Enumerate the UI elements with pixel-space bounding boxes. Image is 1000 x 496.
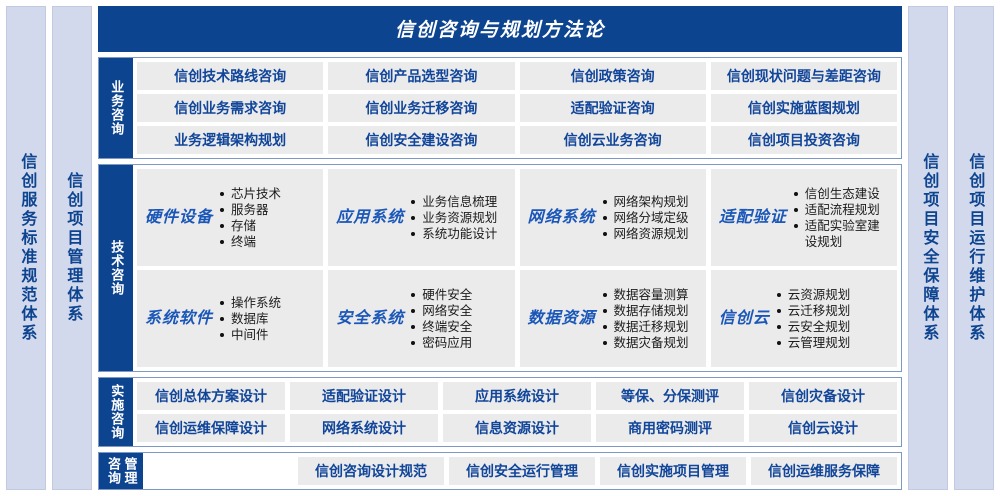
card-row: 系统软件 操作系统 数据库 中间件 安全系统 硬件安全 网络安全 终端安全 bbox=[137, 270, 897, 367]
bullet-item: 业务信息梳理 bbox=[410, 194, 508, 210]
pillar-project-ops-system: 信创项目运行维护体系 bbox=[954, 6, 994, 490]
card-heading: 应用系统 bbox=[336, 209, 404, 227]
bullet-item: 网络资源规划 bbox=[602, 226, 700, 242]
card-heading: 适配验证 bbox=[719, 209, 787, 227]
card-heading: 数据资源 bbox=[528, 310, 596, 328]
pillar-project-security-system: 信创项目安全保障体系 bbox=[908, 6, 948, 490]
card-bullet-list: 云资源规划 云迁移规划 云安全规划 云管理规划 bbox=[776, 287, 891, 351]
card-hardware-devices[interactable]: 硬件设备 芯片技术 服务器 存储 终端 bbox=[137, 169, 323, 266]
bullet-item: 云管理规划 bbox=[776, 335, 891, 351]
center-column: 信创咨询与规划方法论 业务咨询 信创技术路线咨询 信创产品选型咨询 信创政策咨询… bbox=[98, 6, 902, 490]
chip-row: 信创总体方案设计 适配验证设计 应用系统设计 等保、分保测评 信创灾备设计 bbox=[137, 382, 897, 410]
bullet-item: 数据迁移规划 bbox=[602, 319, 700, 335]
band-label-implementation-consulting: 实施咨询 bbox=[99, 378, 133, 446]
chip-item[interactable]: 适配验证咨询 bbox=[520, 94, 706, 122]
bullet-item: 硬件安全 bbox=[410, 287, 508, 303]
card-system-software[interactable]: 系统软件 操作系统 数据库 中间件 bbox=[137, 270, 323, 367]
bullet-item: 适配实验室建设规划 bbox=[793, 218, 891, 250]
band-body-technical-consulting: 硬件设备 芯片技术 服务器 存储 终端 应用系统 业务信息梳理 业务资源规划 bbox=[133, 165, 901, 371]
chip-item[interactable]: 信创业务需求咨询 bbox=[137, 94, 323, 122]
band-label-text-col2: 管理 bbox=[122, 457, 137, 485]
bullet-item: 网络架构规划 bbox=[602, 194, 700, 210]
bullet-item: 适配流程规划 bbox=[793, 202, 891, 218]
chip-row: 业务逻辑架构规划 信创安全建设咨询 信创云业务咨询 信创项目投资咨询 bbox=[137, 126, 897, 154]
chip-item[interactable]: 信创安全建设咨询 bbox=[328, 126, 514, 154]
chip-item[interactable]: 信创实施蓝图规划 bbox=[711, 94, 897, 122]
bullet-item: 终端安全 bbox=[410, 319, 508, 335]
pillar-project-management-system: 信创项目管理体系 bbox=[52, 6, 92, 490]
card-application-system[interactable]: 应用系统 业务信息梳理 业务资源规划 系统功能设计 bbox=[328, 169, 514, 266]
page-title: 信创咨询与规划方法论 bbox=[98, 6, 902, 52]
chip-item[interactable]: 信创云业务咨询 bbox=[520, 126, 706, 154]
chip-item[interactable]: 信创运维服务保障 bbox=[751, 457, 897, 485]
pillar-label: 信创项目管理体系 bbox=[64, 172, 81, 324]
chip-row: 信创咨询设计规范 信创安全运行管理 信创实施项目管理 信创运维服务保障 bbox=[147, 457, 897, 485]
chip-row: 信创技术路线咨询 信创产品选型咨询 信创政策咨询 信创现状问题与差距咨询 bbox=[137, 62, 897, 90]
chip-item[interactable]: 信创项目投资咨询 bbox=[711, 126, 897, 154]
card-security-system[interactable]: 安全系统 硬件安全 网络安全 终端安全 密码应用 bbox=[328, 270, 514, 367]
band-label-technical-consulting: 技术咨询 bbox=[99, 165, 133, 371]
bullet-item: 数据灾备规划 bbox=[602, 335, 700, 351]
band-consulting-management: 咨询 管理 信创咨询设计规范 信创安全运行管理 信创实施项目管理 信创运维服务保… bbox=[98, 452, 902, 490]
chip-item[interactable]: 信创实施项目管理 bbox=[600, 457, 746, 485]
card-bullet-list: 业务信息梳理 业务资源规划 系统功能设计 bbox=[410, 194, 508, 242]
card-bullet-list: 网络架构规划 网络分域定级 网络资源规划 bbox=[602, 194, 700, 242]
band-body-implementation-consulting: 信创总体方案设计 适配验证设计 应用系统设计 等保、分保测评 信创灾备设计 信创… bbox=[133, 378, 901, 446]
chip-item[interactable]: 网络系统设计 bbox=[290, 414, 438, 442]
band-technical-consulting: 技术咨询 硬件设备 芯片技术 服务器 存储 终端 应用系统 bbox=[98, 164, 902, 372]
card-data-resources[interactable]: 数据资源 数据容量测算 数据存储规划 数据迁移规划 数据灾备规划 bbox=[520, 270, 706, 367]
bullet-item: 云资源规划 bbox=[776, 287, 891, 303]
chip-item[interactable]: 商用密码测评 bbox=[596, 414, 744, 442]
band-body-consulting-management: 信创咨询设计规范 信创安全运行管理 信创实施项目管理 信创运维服务保障 bbox=[143, 453, 901, 489]
chip-item[interactable]: 应用系统设计 bbox=[443, 382, 591, 410]
bullet-item: 数据库 bbox=[219, 311, 317, 327]
band-label-consulting-management: 咨询 管理 bbox=[99, 453, 143, 489]
bullet-item: 存储 bbox=[219, 218, 317, 234]
band-label-text: 技术咨询 bbox=[109, 240, 124, 296]
band-business-consulting: 业务咨询 信创技术路线咨询 信创产品选型咨询 信创政策咨询 信创现状问题与差距咨… bbox=[98, 57, 902, 159]
chip-item[interactable]: 适配验证设计 bbox=[290, 382, 438, 410]
card-heading: 安全系统 bbox=[336, 310, 404, 328]
chip-item[interactable]: 信创云设计 bbox=[749, 414, 897, 442]
bullet-item: 网络安全 bbox=[410, 303, 508, 319]
bullet-item: 终端 bbox=[219, 234, 317, 250]
card-xinchuang-cloud[interactable]: 信创云 云资源规划 云迁移规划 云安全规划 云管理规划 bbox=[711, 270, 897, 367]
chip-row: 信创运维保障设计 网络系统设计 信息资源设计 商用密码测评 信创云设计 bbox=[137, 414, 897, 442]
chip-item[interactable]: 信创运维保障设计 bbox=[137, 414, 285, 442]
band-label-text: 实施咨询 bbox=[109, 384, 124, 440]
chip-item[interactable]: 信创总体方案设计 bbox=[137, 382, 285, 410]
band-label-text: 业务咨询 bbox=[109, 80, 124, 136]
card-heading: 网络系统 bbox=[528, 209, 596, 227]
bullet-item: 云迁移规划 bbox=[776, 303, 891, 319]
band-label-business-consulting: 业务咨询 bbox=[99, 58, 133, 158]
pillar-label: 信创服务标准规范体系 bbox=[18, 153, 35, 343]
chip-item[interactable]: 信创产品选型咨询 bbox=[328, 62, 514, 90]
card-heading: 信创云 bbox=[719, 310, 770, 328]
bullet-item: 系统功能设计 bbox=[410, 226, 508, 242]
card-network-system[interactable]: 网络系统 网络架构规划 网络分域定级 网络资源规划 bbox=[520, 169, 706, 266]
bullet-item: 操作系统 bbox=[219, 295, 317, 311]
bullet-item: 信创生态建设 bbox=[793, 186, 891, 202]
diagram-root: 信创服务标准规范体系 信创项目管理体系 信创咨询与规划方法论 业务咨询 信创技术… bbox=[0, 0, 1000, 496]
chip-item[interactable]: 信创技术路线咨询 bbox=[137, 62, 323, 90]
pillar-label: 信创项目安全保障体系 bbox=[920, 153, 937, 343]
bullet-item: 业务资源规划 bbox=[410, 210, 508, 226]
band-body-business-consulting: 信创技术路线咨询 信创产品选型咨询 信创政策咨询 信创现状问题与差距咨询 信创业… bbox=[133, 58, 901, 158]
pillar-label: 信创项目运行维护体系 bbox=[966, 153, 983, 343]
card-adaptation-verification[interactable]: 适配验证 信创生态建设 适配流程规划 适配实验室建设规划 bbox=[711, 169, 897, 266]
chip-item[interactable]: 信创现状问题与差距咨询 bbox=[711, 62, 897, 90]
chip-item[interactable]: 信创咨询设计规范 bbox=[298, 457, 444, 485]
chip-spacer bbox=[147, 457, 293, 485]
card-heading: 系统软件 bbox=[145, 310, 213, 328]
chip-item[interactable]: 信创政策咨询 bbox=[520, 62, 706, 90]
card-bullet-list: 操作系统 数据库 中间件 bbox=[219, 295, 317, 343]
card-bullet-list: 硬件安全 网络安全 终端安全 密码应用 bbox=[410, 287, 508, 351]
card-bullet-list: 信创生态建设 适配流程规划 适配实验室建设规划 bbox=[793, 186, 891, 250]
bullet-item: 服务器 bbox=[219, 202, 317, 218]
bullet-item: 芯片技术 bbox=[219, 186, 317, 202]
card-row: 硬件设备 芯片技术 服务器 存储 终端 应用系统 业务信息梳理 业务资源规划 bbox=[137, 169, 897, 266]
chip-item[interactable]: 信创业务迁移咨询 bbox=[328, 94, 514, 122]
card-bullet-list: 数据容量测算 数据存储规划 数据迁移规划 数据灾备规划 bbox=[602, 287, 700, 351]
card-bullet-list: 芯片技术 服务器 存储 终端 bbox=[219, 186, 317, 250]
chip-row: 信创业务需求咨询 信创业务迁移咨询 适配验证咨询 信创实施蓝图规划 bbox=[137, 94, 897, 122]
chip-item[interactable]: 业务逻辑架构规划 bbox=[137, 126, 323, 154]
bullet-item: 数据容量测算 bbox=[602, 287, 700, 303]
bullet-item: 网络分域定级 bbox=[602, 210, 700, 226]
bullet-item: 中间件 bbox=[219, 327, 317, 343]
chip-item[interactable]: 信息资源设计 bbox=[443, 414, 591, 442]
card-heading: 硬件设备 bbox=[145, 209, 213, 227]
band-label-text-col1: 咨询 bbox=[105, 457, 120, 485]
chip-item[interactable]: 信创安全运行管理 bbox=[449, 457, 595, 485]
chip-item[interactable]: 等保、分保测评 bbox=[596, 382, 744, 410]
bullet-item: 密码应用 bbox=[410, 335, 508, 351]
bullet-item: 云安全规划 bbox=[776, 319, 891, 335]
pillar-service-standard-system: 信创服务标准规范体系 bbox=[6, 6, 46, 490]
band-implementation-consulting: 实施咨询 信创总体方案设计 适配验证设计 应用系统设计 等保、分保测评 信创灾备… bbox=[98, 377, 902, 447]
chip-item[interactable]: 信创灾备设计 bbox=[749, 382, 897, 410]
bullet-item: 数据存储规划 bbox=[602, 303, 700, 319]
